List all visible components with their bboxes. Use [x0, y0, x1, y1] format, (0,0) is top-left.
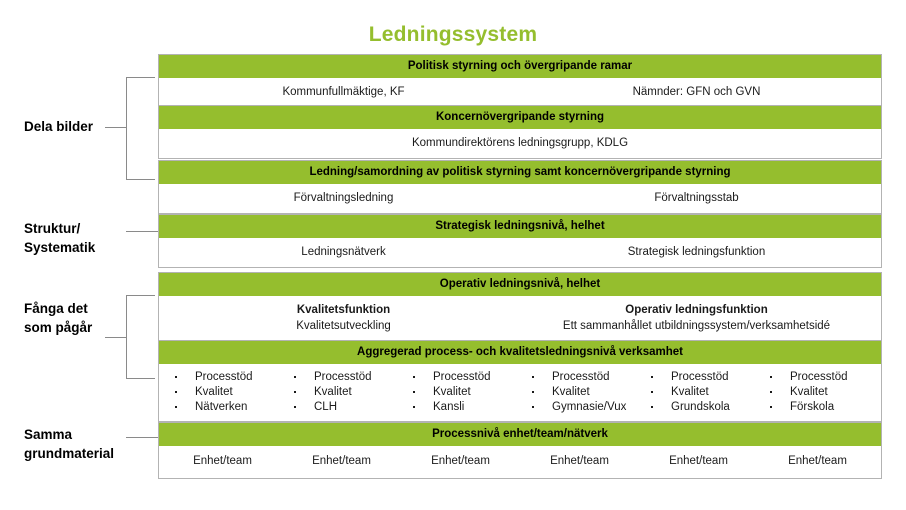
cell-kdlg[interactable]: Kommundirektörens ledningsgrupp, KDLG [167, 135, 873, 151]
connector-samma-grundmaterial [126, 437, 158, 438]
rail-label-line1: Samma [24, 425, 129, 444]
list-item[interactable]: Kvalitet [528, 385, 639, 400]
rail-label-samma-grundmaterial: Samma grundmaterial [24, 425, 129, 463]
block-strategisk-ledningsniva[interactable]: Strategisk ledningsnivå, helhet Lednings… [158, 214, 882, 268]
list-item[interactable]: Kvalitet [171, 385, 282, 400]
list-item[interactable]: Processtöd [171, 370, 282, 385]
block-body: Processtöd Kvalitet Nätverken Processtöd… [159, 364, 881, 421]
block-body: Ledningsnätverk Strategisk ledningsfunkt… [159, 238, 881, 267]
rail-label-line2: som pågår [24, 318, 129, 337]
block-header: Strategisk ledningsnivå, helhet [159, 215, 881, 238]
bullet-column: Processtöd Kvalitet Grundskola [639, 370, 758, 415]
cell-forvaltningsstab[interactable]: Förvaltningsstab [520, 190, 873, 206]
cell-enhet-team[interactable]: Enhet/team [163, 453, 282, 470]
bullet-column: Processtöd Kvalitet Förskola [758, 370, 877, 415]
two-column-row: Ledningsnätverk Strategisk ledningsfunkt… [167, 244, 873, 260]
cell-enhet-team[interactable]: Enhet/team [520, 453, 639, 470]
cell-namnder[interactable]: Nämnder: GFN och GVN [520, 84, 873, 100]
single-column-row: Kommundirektörens ledningsgrupp, KDLG [167, 135, 873, 151]
rail-label-line2: grundmaterial [24, 444, 129, 463]
list-item[interactable]: CLH [290, 400, 401, 415]
cell-operativ-ledningsfunktion[interactable]: Operativ ledningsfunktion Ett sammanhåll… [520, 302, 873, 334]
cell-subtitle: Kvalitetsutveckling [167, 318, 520, 334]
block-politisk-styrning[interactable]: Politisk styrning och övergripande ramar… [158, 54, 882, 108]
cell-enhet-team[interactable]: Enhet/team [639, 453, 758, 470]
bracket-arm-bottom [127, 179, 155, 180]
list-item[interactable]: Kansli [409, 400, 520, 415]
cell-title: Operativ ledningsfunktion [520, 302, 873, 318]
bracket-stub-middle [105, 127, 127, 128]
cell-forvaltningsledning[interactable]: Förvaltningsledning [167, 190, 520, 206]
rail-label-line1: Struktur/ [24, 219, 129, 238]
cell-title: Kvalitetsfunktion [167, 302, 520, 318]
bracket-dela-bilder [126, 77, 127, 180]
cell-enhet-team[interactable]: Enhet/team [282, 453, 401, 470]
cell-ledningsnatverk[interactable]: Ledningsnätverk [167, 244, 520, 260]
cell-strategisk-ledningsfunktion[interactable]: Strategisk ledningsfunktion [520, 244, 873, 260]
list-item[interactable]: Nätverken [171, 400, 282, 415]
block-ledning-samordning[interactable]: Ledning/samordning av politisk styrning … [158, 160, 882, 214]
cell-enhet-team[interactable]: Enhet/team [401, 453, 520, 470]
two-column-row: Kvalitetsfunktion Kvalitetsutveckling Op… [167, 302, 873, 334]
cell-kommunfullmaktige[interactable]: Kommunfullmäktige, KF [167, 84, 520, 100]
list-item[interactable]: Processtöd [290, 370, 401, 385]
rail-label-fanga-det-som-pagar: Fånga det som pågår [24, 299, 129, 337]
list-item[interactable]: Kvalitet [290, 385, 401, 400]
bullet-list: Processtöd Kvalitet Gymnasie/Vux [528, 370, 639, 415]
bullet-column: Processtöd Kvalitet CLH [282, 370, 401, 415]
bullet-column: Processtöd Kvalitet Kansli [401, 370, 520, 415]
block-body: Kvalitetsfunktion Kvalitetsutveckling Op… [159, 296, 881, 341]
block-body: Kommundirektörens ledningsgrupp, KDLG [159, 129, 881, 158]
bracket-fanga-det-som-pagar [126, 295, 127, 379]
block-header: Ledning/samordning av politisk styrning … [159, 161, 881, 184]
list-item[interactable]: Kvalitet [766, 385, 877, 400]
list-item[interactable]: Processtöd [528, 370, 639, 385]
list-item[interactable]: Processtöd [766, 370, 877, 385]
block-body: Förvaltningsledning Förvaltningsstab [159, 184, 881, 213]
rail-label-line2: Systematik [24, 238, 129, 257]
block-koncernovergripande-styrning[interactable]: Koncernövergripande styrning Kommundirek… [158, 105, 882, 159]
bullet-list: Processtöd Kvalitet Nätverken [171, 370, 282, 415]
block-header: Aggregerad process- och kvalitetsledning… [159, 341, 881, 364]
cell-subtitle: Ett sammanhållet utbildningssystem/verks… [520, 318, 873, 334]
page-title: Ledningssystem [0, 23, 906, 47]
bracket-stub-middle [105, 337, 127, 338]
bullet-column: Processtöd Kvalitet Gymnasie/Vux [520, 370, 639, 415]
rail-label-line1: Fånga det [24, 299, 129, 318]
block-header: Operativ ledningsnivå, helhet [159, 273, 881, 296]
rail-label-line1: Dela bilder [24, 119, 93, 134]
block-operativ-ledningsniva[interactable]: Operativ ledningsnivå, helhet Kvalitetsf… [158, 272, 882, 342]
list-item[interactable]: Processtöd [409, 370, 520, 385]
bullet-column: Processtöd Kvalitet Nätverken [163, 370, 282, 415]
list-item[interactable]: Processtöd [647, 370, 758, 385]
list-item[interactable]: Kvalitet [647, 385, 758, 400]
block-header: Politisk styrning och övergripande ramar [159, 55, 881, 78]
block-body: Kommunfullmäktige, KF Nämnder: GFN och G… [159, 78, 881, 107]
block-aggregerad-process[interactable]: Aggregerad process- och kvalitetsledning… [158, 340, 882, 422]
cell-enhet-team[interactable]: Enhet/team [758, 453, 877, 470]
list-item[interactable]: Grundskola [647, 400, 758, 415]
bullet-columns: Processtöd Kvalitet Nätverken Processtöd… [163, 370, 877, 415]
block-header: Processnivå enhet/team/nätverk [159, 423, 881, 446]
block-processniva-enhet-team-natverk[interactable]: Processnivå enhet/team/nätverk Enhet/tea… [158, 422, 882, 479]
bullet-list: Processtöd Kvalitet Förskola [766, 370, 877, 415]
list-item[interactable]: Gymnasie/Vux [528, 400, 639, 415]
list-item[interactable]: Kvalitet [409, 385, 520, 400]
two-column-row: Förvaltningsledning Förvaltningsstab [167, 190, 873, 206]
two-column-row: Kommunfullmäktige, KF Nämnder: GFN och G… [167, 84, 873, 100]
bracket-arm-top [127, 295, 155, 296]
bullet-list: Processtöd Kvalitet CLH [290, 370, 401, 415]
rail-label-struktur-systematik: Struktur/ Systematik [24, 219, 129, 257]
list-item[interactable]: Förskola [766, 400, 877, 415]
connector-struktur-systematik [126, 231, 158, 232]
block-body: Enhet/team Enhet/team Enhet/team Enhet/t… [159, 446, 881, 478]
cell-kvalitetsfunktion[interactable]: Kvalitetsfunktion Kvalitetsutveckling [167, 302, 520, 334]
bullet-list: Processtöd Kvalitet Kansli [409, 370, 520, 415]
diagram-canvas: Ledningssystem Dela bilder Struktur/ Sys… [0, 0, 906, 510]
block-header: Koncernövergripande styrning [159, 106, 881, 129]
bullet-list: Processtöd Kvalitet Grundskola [647, 370, 758, 415]
bracket-arm-bottom [127, 378, 155, 379]
bracket-arm-top [127, 77, 155, 78]
six-column-row: Enhet/team Enhet/team Enhet/team Enhet/t… [163, 453, 877, 470]
